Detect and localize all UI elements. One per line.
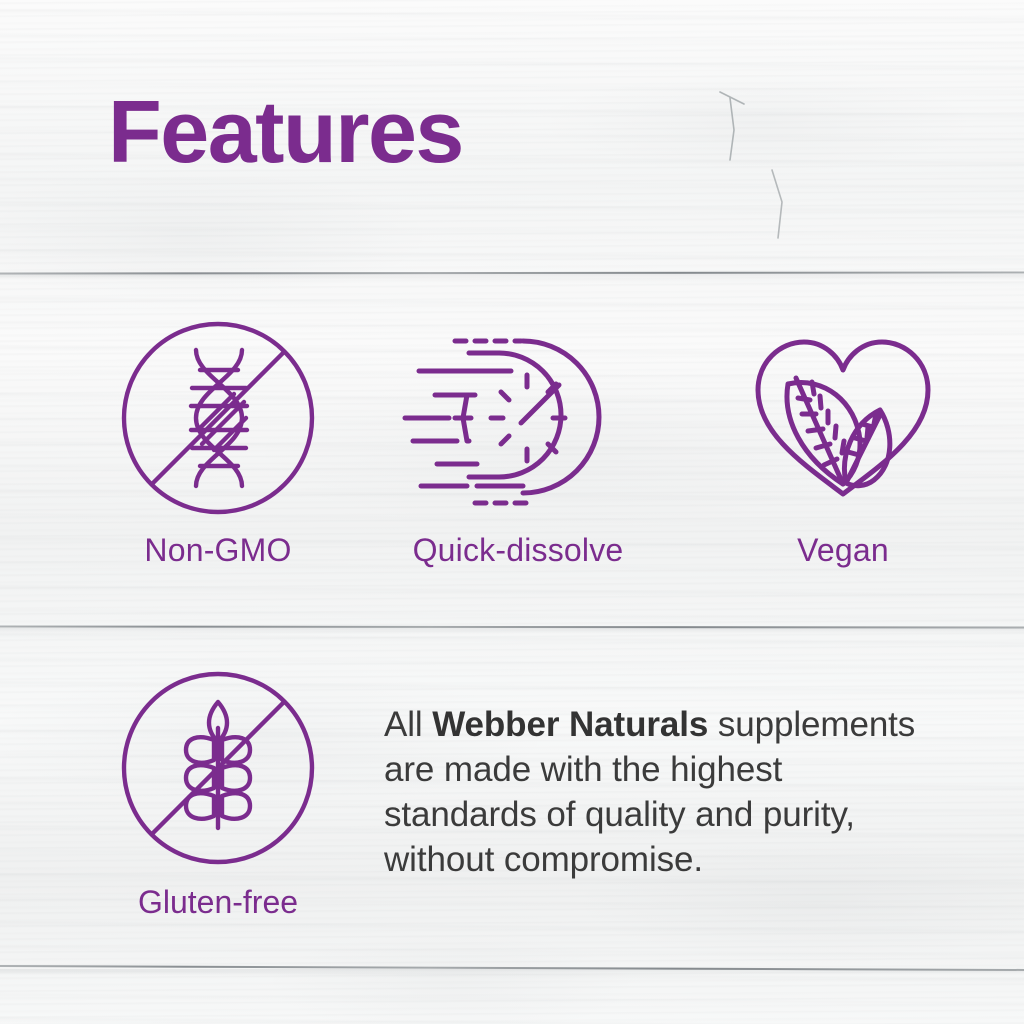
heart-leaves-icon bbox=[688, 318, 998, 518]
feature-gluten-free[interactable]: Gluten-free bbox=[58, 668, 378, 921]
blurb-brand: Webber Naturals bbox=[432, 705, 708, 744]
feature-label-gluten-free: Gluten-free bbox=[58, 884, 378, 921]
feature-non-gmo[interactable]: Non-GMO bbox=[58, 318, 378, 569]
feature-label-non-gmo: Non-GMO bbox=[58, 532, 378, 569]
features-panel: Features bbox=[0, 0, 1024, 1024]
feature-label-vegan: Vegan bbox=[688, 532, 998, 569]
feature-vegan[interactable]: Vegan bbox=[688, 318, 998, 569]
feature-quick-dissolve[interactable]: Quick-dissolve bbox=[368, 318, 668, 569]
brand-blurb: All Webber Naturals supplements are made… bbox=[384, 702, 944, 882]
speed-clock-icon bbox=[368, 318, 668, 518]
feature-label-quick-dissolve: Quick-dissolve bbox=[368, 532, 668, 569]
wheat-no-circle-icon bbox=[58, 668, 378, 868]
dna-no-circle-icon bbox=[58, 318, 378, 518]
page-title: Features bbox=[108, 88, 463, 176]
blurb-lead: All bbox=[384, 705, 432, 744]
feature-icon-row: Non-GMO bbox=[0, 318, 1024, 608]
